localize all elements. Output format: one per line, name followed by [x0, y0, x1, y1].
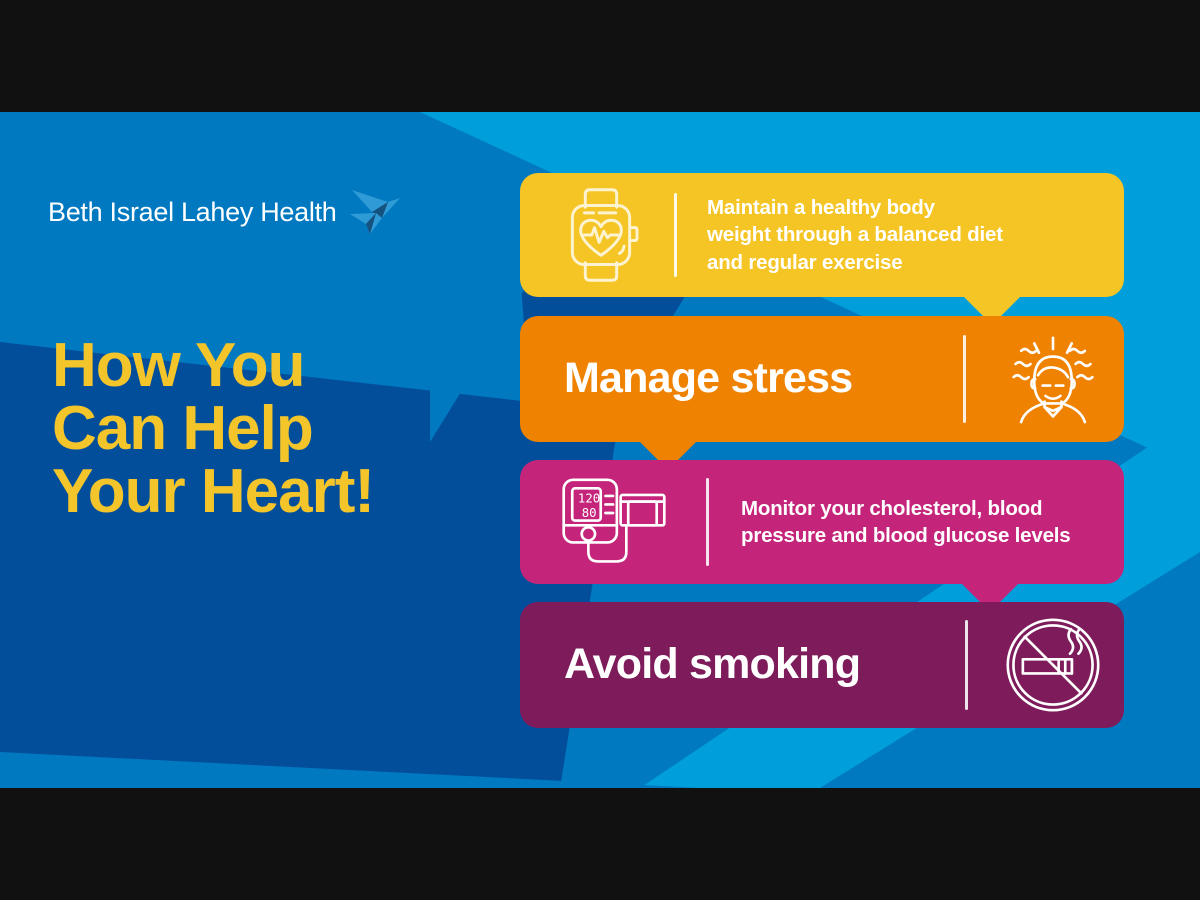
chevron-swoosh-logo-icon	[348, 186, 404, 238]
svg-text:80: 80	[582, 505, 597, 519]
letterbox-top	[0, 0, 1200, 112]
tip-card-monitor-levels[interactable]: 120 80 Monitor your cholesterol, blood p…	[520, 460, 1124, 584]
stressed-person-icon	[1004, 334, 1102, 424]
tip-line: Monitor your cholesterol, blood	[741, 495, 1070, 522]
svg-text:120: 120	[578, 491, 600, 505]
card-divider	[706, 478, 709, 566]
tip-text-healthy-weight: Maintain a healthy body weight through a…	[707, 194, 1003, 276]
tip-text-monitor-levels: Monitor your cholesterol, blood pressure…	[741, 495, 1070, 550]
card-text-block: Avoid smoking	[564, 642, 900, 687]
tip-card-manage-stress[interactable]: Manage stress	[520, 316, 1124, 442]
tip-line: pressure and blood glucose levels	[741, 522, 1070, 549]
page-title: How You Can Help Your Heart!	[52, 334, 374, 524]
artwork-stage: Beth Israel Lahey Health How You Can Hel…	[0, 112, 1200, 788]
card-divider	[963, 335, 966, 423]
tip-card-healthy-weight[interactable]: Maintain a healthy body weight through a…	[520, 173, 1124, 297]
no-smoking-icon	[1004, 616, 1102, 714]
infographic-poster: Beth Israel Lahey Health How You Can Hel…	[0, 0, 1200, 900]
card-text-block: Monitor your cholesterol, blood pressure…	[741, 495, 1102, 550]
headline-line-2: Can Help	[52, 397, 374, 460]
tip-line: and regular exercise	[707, 249, 1003, 276]
card-text-block: Maintain a healthy body weight through a…	[707, 194, 1102, 276]
tip-line: Manage stress	[564, 356, 852, 401]
headline-line-1: How You	[52, 334, 374, 397]
tip-line: weight through a balanced diet	[707, 221, 1003, 248]
tip-card-avoid-smoking[interactable]: Avoid smoking	[520, 602, 1124, 728]
blood-pressure-monitor-icon: 120 80	[558, 476, 670, 569]
card-divider	[965, 620, 968, 710]
brand-logo-text: Beth Israel Lahey Health	[48, 197, 336, 228]
smartwatch-heart-rate-icon	[562, 187, 640, 283]
headline-line-3: Your Heart!	[52, 460, 374, 523]
tip-text-avoid-smoking: Avoid smoking	[564, 642, 860, 687]
card-divider	[674, 193, 677, 277]
tip-text-manage-stress: Manage stress	[564, 356, 852, 401]
tip-line: Avoid smoking	[564, 642, 860, 687]
letterbox-bottom	[0, 788, 1200, 900]
brand-logo: Beth Israel Lahey Health	[48, 186, 404, 238]
tip-line: Maintain a healthy body	[707, 194, 1003, 221]
card-text-block: Manage stress	[564, 356, 895, 401]
